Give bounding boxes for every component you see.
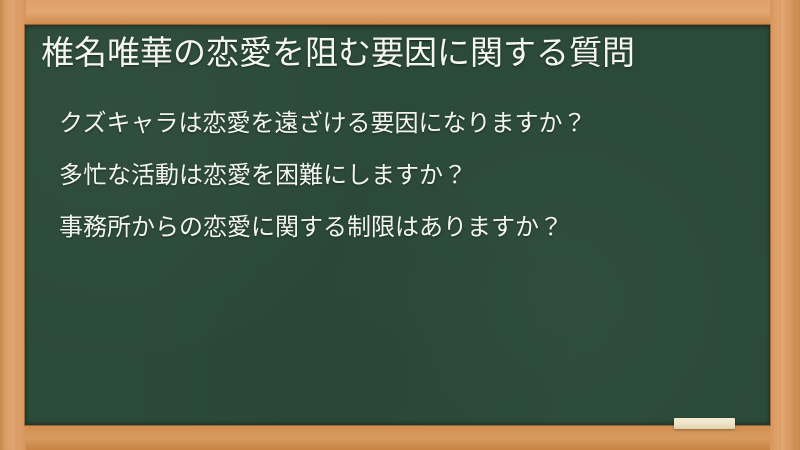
chalkboard-surface: 椎名唯華の恋愛を阻む要因に関する質問 クズキャラは恋愛を遠ざける要因になりますか… xyxy=(25,25,770,425)
frame-grain-right xyxy=(770,0,800,450)
frame-rail-top xyxy=(0,0,800,26)
slide-title: 椎名唯華の恋愛を阻む要因に関する質問 xyxy=(33,29,752,76)
slide-content: 椎名唯華の恋愛を阻む要因に関する質問 クズキャラは恋愛を遠ざける要因になりますか… xyxy=(25,25,770,425)
question-item: 多忙な活動は恋愛を困難にしますか？ xyxy=(33,149,752,201)
frame-grain-left xyxy=(0,0,26,450)
chalkboard-slide: 椎名唯華の恋愛を阻む要因に関する質問 クズキャラは恋愛を遠ざける要因になりますか… xyxy=(0,0,800,450)
question-item: クズキャラは恋愛を遠ざける要因になりますか？ xyxy=(33,97,752,149)
frame-rail-left xyxy=(0,0,26,450)
question-item: 事務所からの恋愛に関する制限はありますか？ xyxy=(33,201,752,253)
question-list: クズキャラは恋愛を遠ざける要因になりますか？ 多忙な活動は恋愛を困難にしますか？… xyxy=(33,97,752,253)
frame-rail-right xyxy=(770,0,800,450)
chalk-eraser-icon xyxy=(674,418,735,429)
